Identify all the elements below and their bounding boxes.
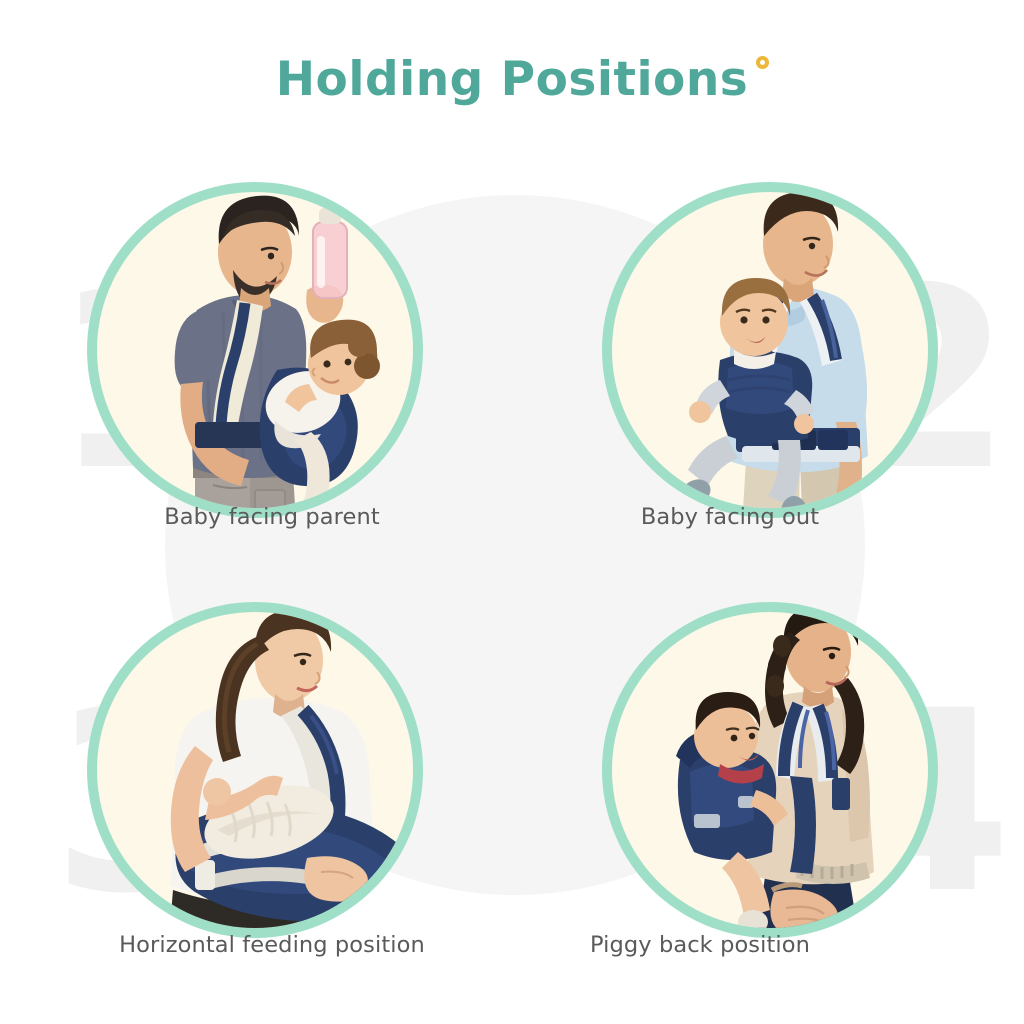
caption-baby-facing-out: Baby facing out [500,504,960,530]
caption-baby-facing-parent: Baby facing parent [42,504,502,530]
caption-piggy-back-position: Piggy back position [470,932,930,958]
photo-horizontal-feeding-position [45,560,465,980]
holding-positions-infographic: 1 2 3 4 Holding Positions [0,0,1024,1024]
caption-horizontal-feeding-position: Horizontal feeding position [42,932,502,958]
gold-ring-dot-icon [756,56,769,69]
page-title: Holding Positions [276,52,749,107]
page-title-container: Holding Positions [0,52,1024,107]
photo-baby-facing-parent [45,140,465,560]
page-title-text: Holding Positions [276,52,749,107]
photo-piggy-back-position [560,560,980,980]
photo-baby-facing-out [560,140,980,560]
